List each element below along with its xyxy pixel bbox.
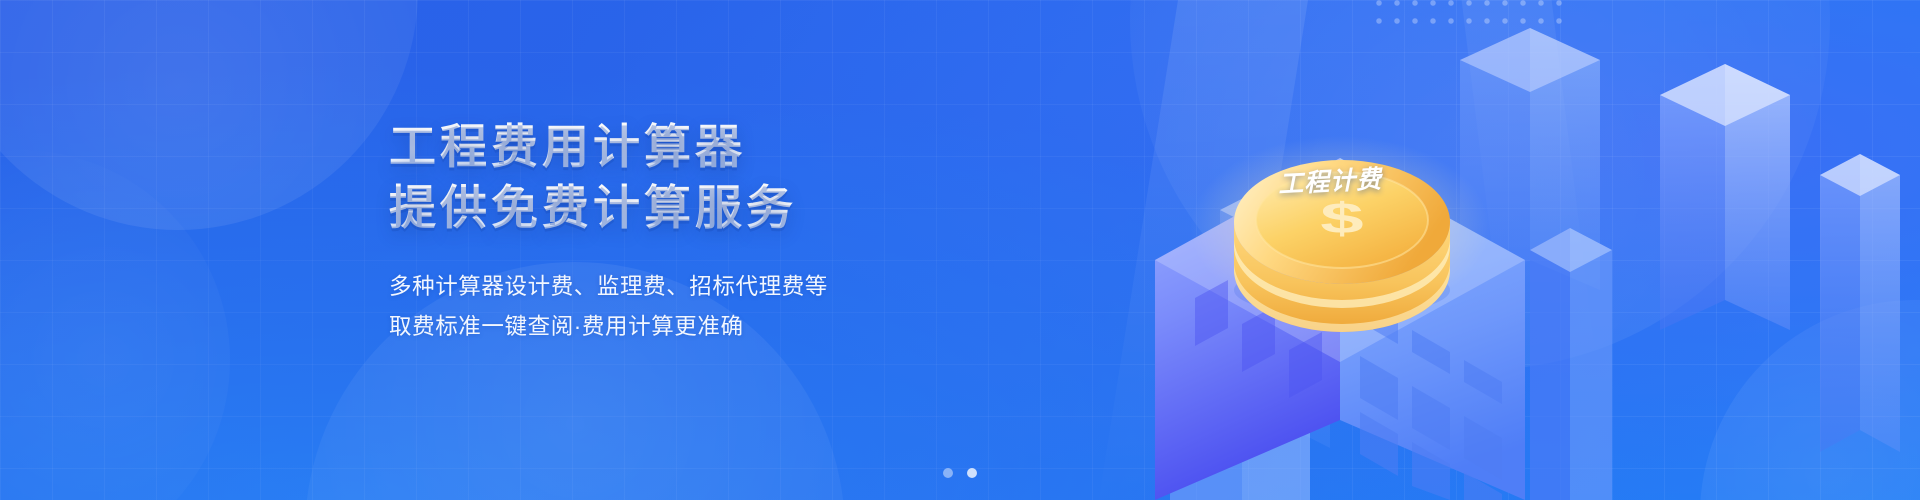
dollar-sign-glyph: $ bbox=[1320, 195, 1363, 243]
svg-text:$: $ bbox=[1320, 195, 1363, 243]
decorative-circle-mid-left bbox=[0, 150, 230, 500]
headline-line-1: 工程费用计算器 bbox=[389, 118, 989, 176]
isometric-city-illustration: $ bbox=[1060, 0, 1920, 500]
illustration-badge-label: 工程计费 bbox=[1277, 159, 1383, 200]
page-title: 工程费用计算器 提供免费计算服务 bbox=[389, 118, 989, 237]
hero-banner: $ 工程计费 工程费用计算器 提供免费计算服务 多种计算器设计费、监理费、招标代… bbox=[0, 0, 1920, 500]
subtitle-line-2: 取费标准一键查阅·费用计算更准确 bbox=[389, 307, 989, 347]
carousel-dot-2[interactable] bbox=[967, 468, 977, 478]
foreground-right-tower bbox=[1530, 228, 1612, 500]
carousel-dots[interactable] bbox=[943, 468, 977, 478]
subtitle-line-1: 多种计算器设计费、监理费、招标代理费等 bbox=[389, 267, 989, 307]
banner-subtitle: 多种计算器设计费、监理费、招标代理费等 取费标准一键查阅·费用计算更准确 bbox=[389, 267, 989, 347]
headline-line-2: 提供免费计算服务 bbox=[389, 179, 989, 237]
banner-copy: 工程费用计算器 提供免费计算服务 多种计算器设计费、监理费、招标代理费等 取费标… bbox=[389, 118, 989, 347]
carousel-dot-1[interactable] bbox=[943, 468, 953, 478]
decorative-circle-top-left bbox=[0, 0, 418, 230]
